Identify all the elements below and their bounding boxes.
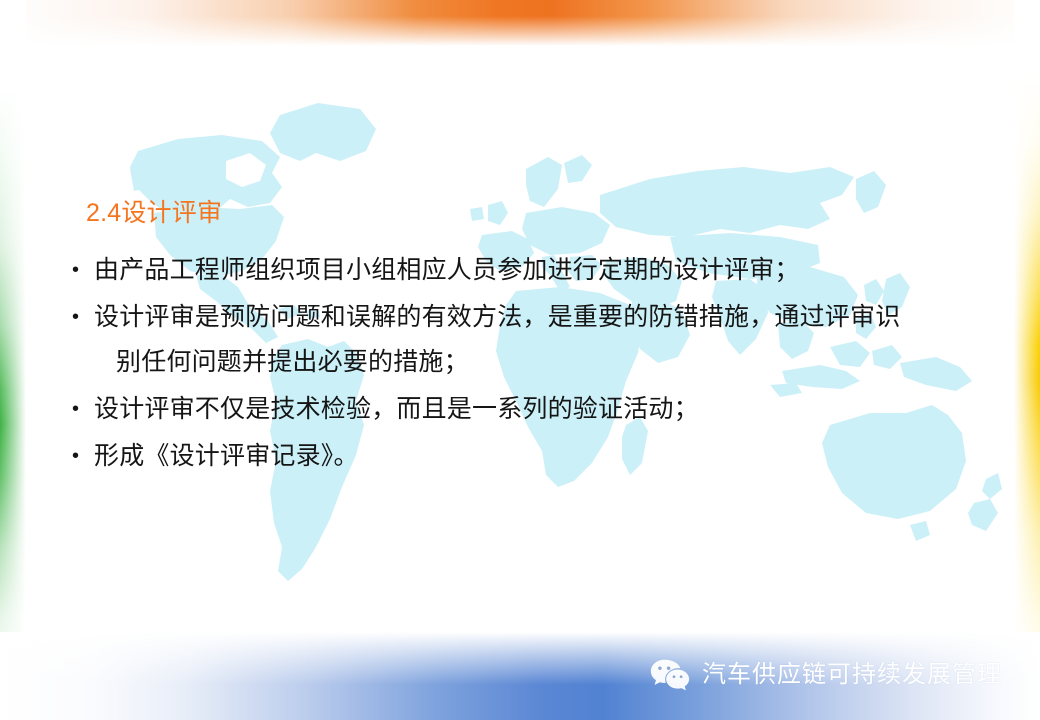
bullet-list: • 由产品工程师组织项目小组相应人员参加进行定期的设计评审； • 设计评审是预防… <box>72 248 982 481</box>
bullet-text-line-1: 设计评审是预防问题和误解的有效方法，是重要的防错措施，通过评审识 <box>94 303 900 331</box>
bullet-marker-icon: • <box>72 387 94 432</box>
list-item: • 由产品工程师组织项目小组相应人员参加进行定期的设计评审； <box>72 248 982 293</box>
list-item: • 设计评审是预防问题和误解的有效方法，是重要的防错措施，通过评审识 别任何问题… <box>72 295 982 385</box>
bullet-text: 形成《设计评审记录》。 <box>94 434 982 479</box>
watermark-text: 汽车供应链可持续发展管理 <box>702 660 1002 690</box>
bullet-marker-icon: • <box>72 248 94 293</box>
bullet-text: 设计评审不仅是技术检验，而且是一系列的验证活动； <box>94 387 982 432</box>
wechat-icon <box>650 658 690 692</box>
bullet-marker-icon: • <box>72 295 94 340</box>
presentation-slide: 2.4设计评审 • 由产品工程师组织项目小组相应人员参加进行定期的设计评审； •… <box>0 0 1040 720</box>
bullet-text: 设计评审是预防问题和误解的有效方法，是重要的防错措施，通过评审识 别任何问题并提… <box>94 295 982 385</box>
list-item: • 形成《设计评审记录》。 <box>72 434 982 479</box>
page-title: 2.4设计评审 <box>86 198 222 228</box>
footer-watermark: 汽车供应链可持续发展管理 <box>650 658 1002 692</box>
list-item: • 设计评审不仅是技术检验，而且是一系列的验证活动； <box>72 387 982 432</box>
bullet-text: 由产品工程师组织项目小组相应人员参加进行定期的设计评审； <box>94 248 982 293</box>
slide-content: 2.4设计评审 • 由产品工程师组织项目小组相应人员参加进行定期的设计评审； •… <box>0 0 1040 720</box>
bullet-marker-icon: • <box>72 434 94 479</box>
bullet-text-line-2: 别任何问题并提出必要的措施； <box>94 340 982 385</box>
